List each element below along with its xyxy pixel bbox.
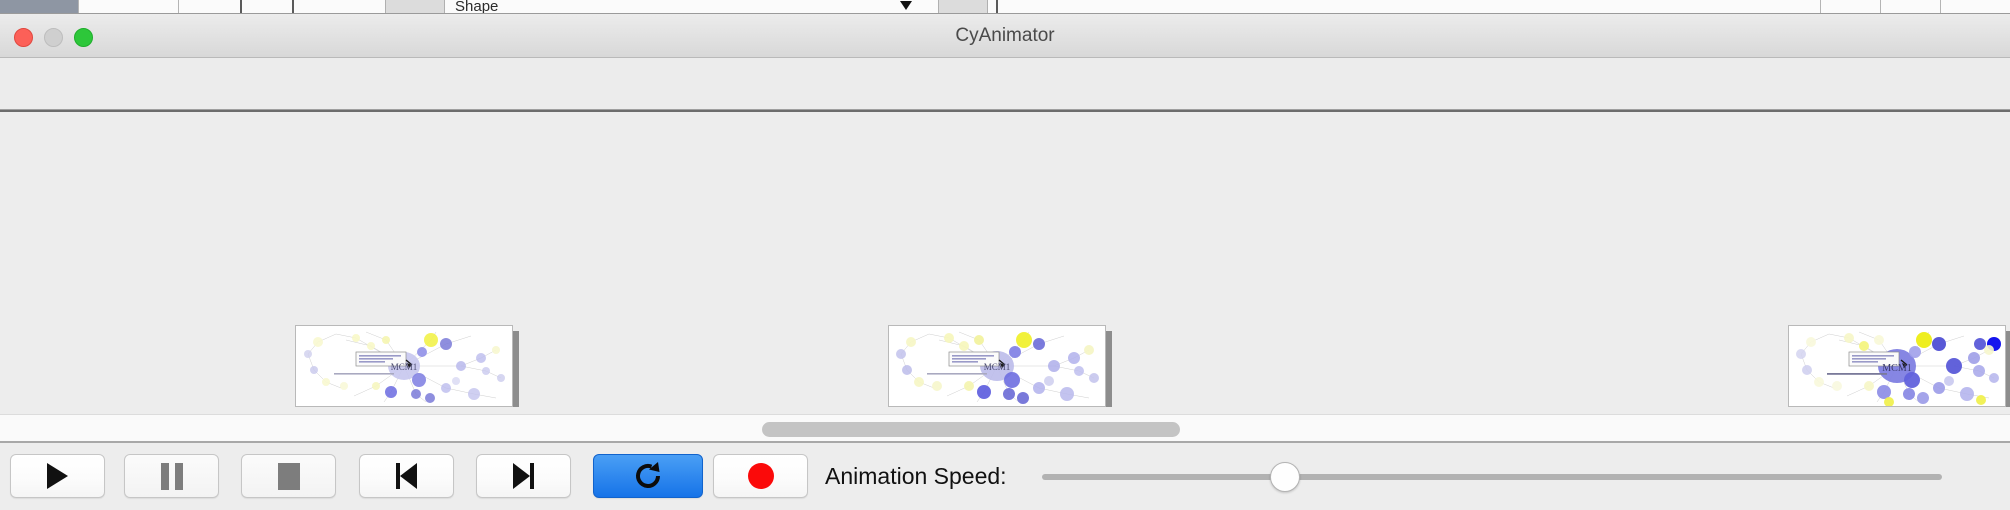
background-sort-arrow-icon xyxy=(900,1,912,10)
background-column-label: Shape xyxy=(455,0,498,14)
background-divider xyxy=(996,0,998,14)
minimize-button[interactable] xyxy=(44,28,63,47)
animation-speed-label: Animation Speed: xyxy=(825,454,1007,498)
frame-thumbnail-2[interactable]: MCM1 xyxy=(888,325,1106,407)
hub-node-label: MCM1 xyxy=(984,362,1011,372)
timeline-scrollbar[interactable] xyxy=(0,414,2010,443)
background-divider xyxy=(1820,0,1821,14)
background-cell xyxy=(938,0,988,14)
hub-node-label: MCM1 xyxy=(1882,363,1911,374)
skip-back-icon xyxy=(396,463,417,489)
close-button[interactable] xyxy=(14,28,33,47)
background-divider xyxy=(178,0,179,14)
background-divider xyxy=(1880,0,1881,14)
loop-icon xyxy=(632,460,664,492)
timeline-panel[interactable]: MCM1 xyxy=(0,112,2010,407)
loop-button[interactable] xyxy=(593,454,703,498)
last-frame-button[interactable] xyxy=(476,454,571,498)
record-icon xyxy=(748,463,774,489)
pause-icon xyxy=(161,463,183,490)
stop-icon xyxy=(278,463,300,490)
animation-speed-slider-thumb[interactable] xyxy=(1270,462,1300,492)
background-cell xyxy=(385,0,445,14)
window-title: CyAnimator xyxy=(0,14,2010,58)
frame-thumbnail-3[interactable]: MCM1 xyxy=(1788,325,2006,407)
play-icon xyxy=(47,463,68,489)
background-divider xyxy=(292,0,294,14)
timeline-scrollbar-thumb[interactable] xyxy=(762,422,1180,437)
cyanimator-window: Shape CyAnimator Clear All xyxy=(0,0,2010,510)
maximize-button[interactable] xyxy=(74,28,93,47)
animation-speed-slider-track[interactable] xyxy=(1042,474,1942,480)
play-button[interactable] xyxy=(10,454,105,498)
skip-forward-icon xyxy=(513,463,534,489)
background-sidebar xyxy=(0,0,78,14)
background-window-strip: Shape xyxy=(0,0,2010,14)
hub-node-label: MCM1 xyxy=(391,362,418,372)
record-button[interactable] xyxy=(713,454,808,498)
background-divider xyxy=(78,0,79,14)
playback-bar: Animation Speed: xyxy=(0,445,2010,510)
background-divider xyxy=(1940,0,1941,14)
stop-button[interactable] xyxy=(241,454,336,498)
traffic-light-group xyxy=(14,28,93,47)
first-frame-button[interactable] xyxy=(359,454,454,498)
pause-button[interactable] xyxy=(124,454,219,498)
toolbar: Clear All Frames xyxy=(0,58,2010,111)
title-bar: CyAnimator xyxy=(0,14,2010,58)
background-divider xyxy=(240,0,242,14)
frame-thumbnail-1[interactable]: MCM1 xyxy=(295,325,513,407)
